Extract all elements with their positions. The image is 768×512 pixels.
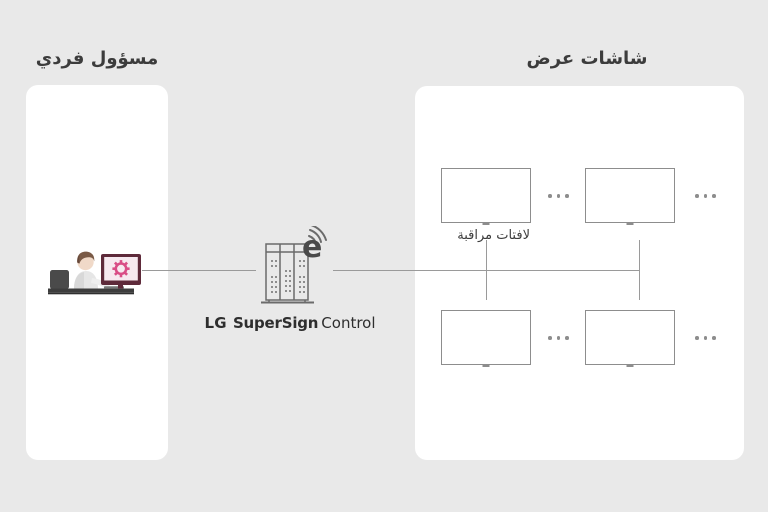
diagram-canvas: مسؤول فردي شاشات عرض (0, 0, 768, 512)
ellipsis-dots (695, 336, 716, 340)
display-monitor (585, 168, 675, 223)
ellipsis-dots (548, 336, 569, 340)
right-section-title: شاشات عرض (462, 48, 712, 69)
supersign-product-text: SuperSign (233, 314, 318, 332)
ellipsis-dots (548, 194, 569, 198)
monitoring-signage-label: لافتات مراقبة (420, 228, 530, 243)
monitor-stand-nub (627, 222, 634, 225)
supersign-control-label: LGSuperSignControl (180, 314, 400, 332)
connector-line-column-2 (639, 240, 640, 300)
ellipsis-dots (695, 194, 716, 198)
connector-line-column-1 (486, 240, 487, 300)
display-monitor (441, 168, 531, 223)
displays-panel (415, 86, 744, 460)
display-monitor (585, 310, 675, 365)
monitor-stand-nub (483, 222, 490, 225)
monitor-stand-nub (627, 364, 634, 367)
display-monitor (441, 310, 531, 365)
person-at-desk-with-settings-monitor-icon (48, 236, 143, 296)
connector-line-left (142, 270, 256, 271)
server-rack-wireless-icon: e (258, 226, 338, 310)
monitor-stand-nub (483, 364, 490, 367)
wireless-e-glyph: e (302, 230, 322, 265)
control-suffix-text: Control (321, 314, 375, 332)
left-section-title: مسؤول فردي (26, 48, 168, 69)
lg-brand-text: LG (204, 314, 226, 332)
